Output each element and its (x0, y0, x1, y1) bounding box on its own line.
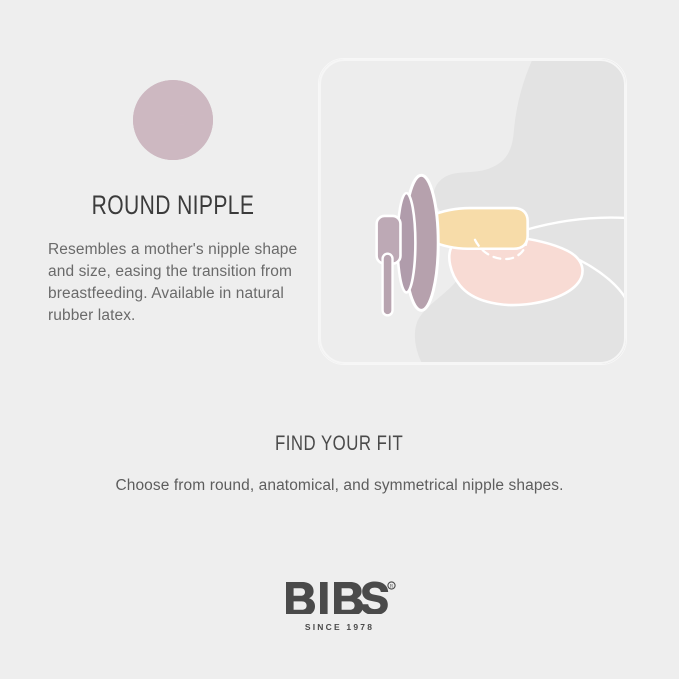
fit-heading: FIND YOUR FIT (275, 432, 403, 456)
find-your-fit-section: FIND YOUR FIT Choose from round, anatomi… (0, 432, 679, 495)
round-nipple-shape-icon (133, 80, 213, 160)
feature-copy-block: ROUND NIPPLE Resembles a mother's nipple… (48, 80, 298, 327)
fit-subtext: Choose from round, anatomical, and symme… (0, 477, 679, 495)
baby-mouth-pacifier-cross-section-icon (319, 59, 626, 364)
feature-description: Resembles a mother's nipple shape and si… (48, 239, 298, 327)
brand-tagline: SINCE 1978 (0, 622, 679, 632)
feature-title: ROUND NIPPLE (76, 190, 271, 221)
bibs-logo: R (284, 580, 396, 614)
brand-footer: R SINCE 1978 (0, 580, 679, 632)
fit-heading-row: FIND YOUR FIT (0, 432, 679, 456)
illustration-card (318, 58, 627, 365)
feature-hero-section: ROUND NIPPLE Resembles a mother's nipple… (0, 0, 679, 395)
